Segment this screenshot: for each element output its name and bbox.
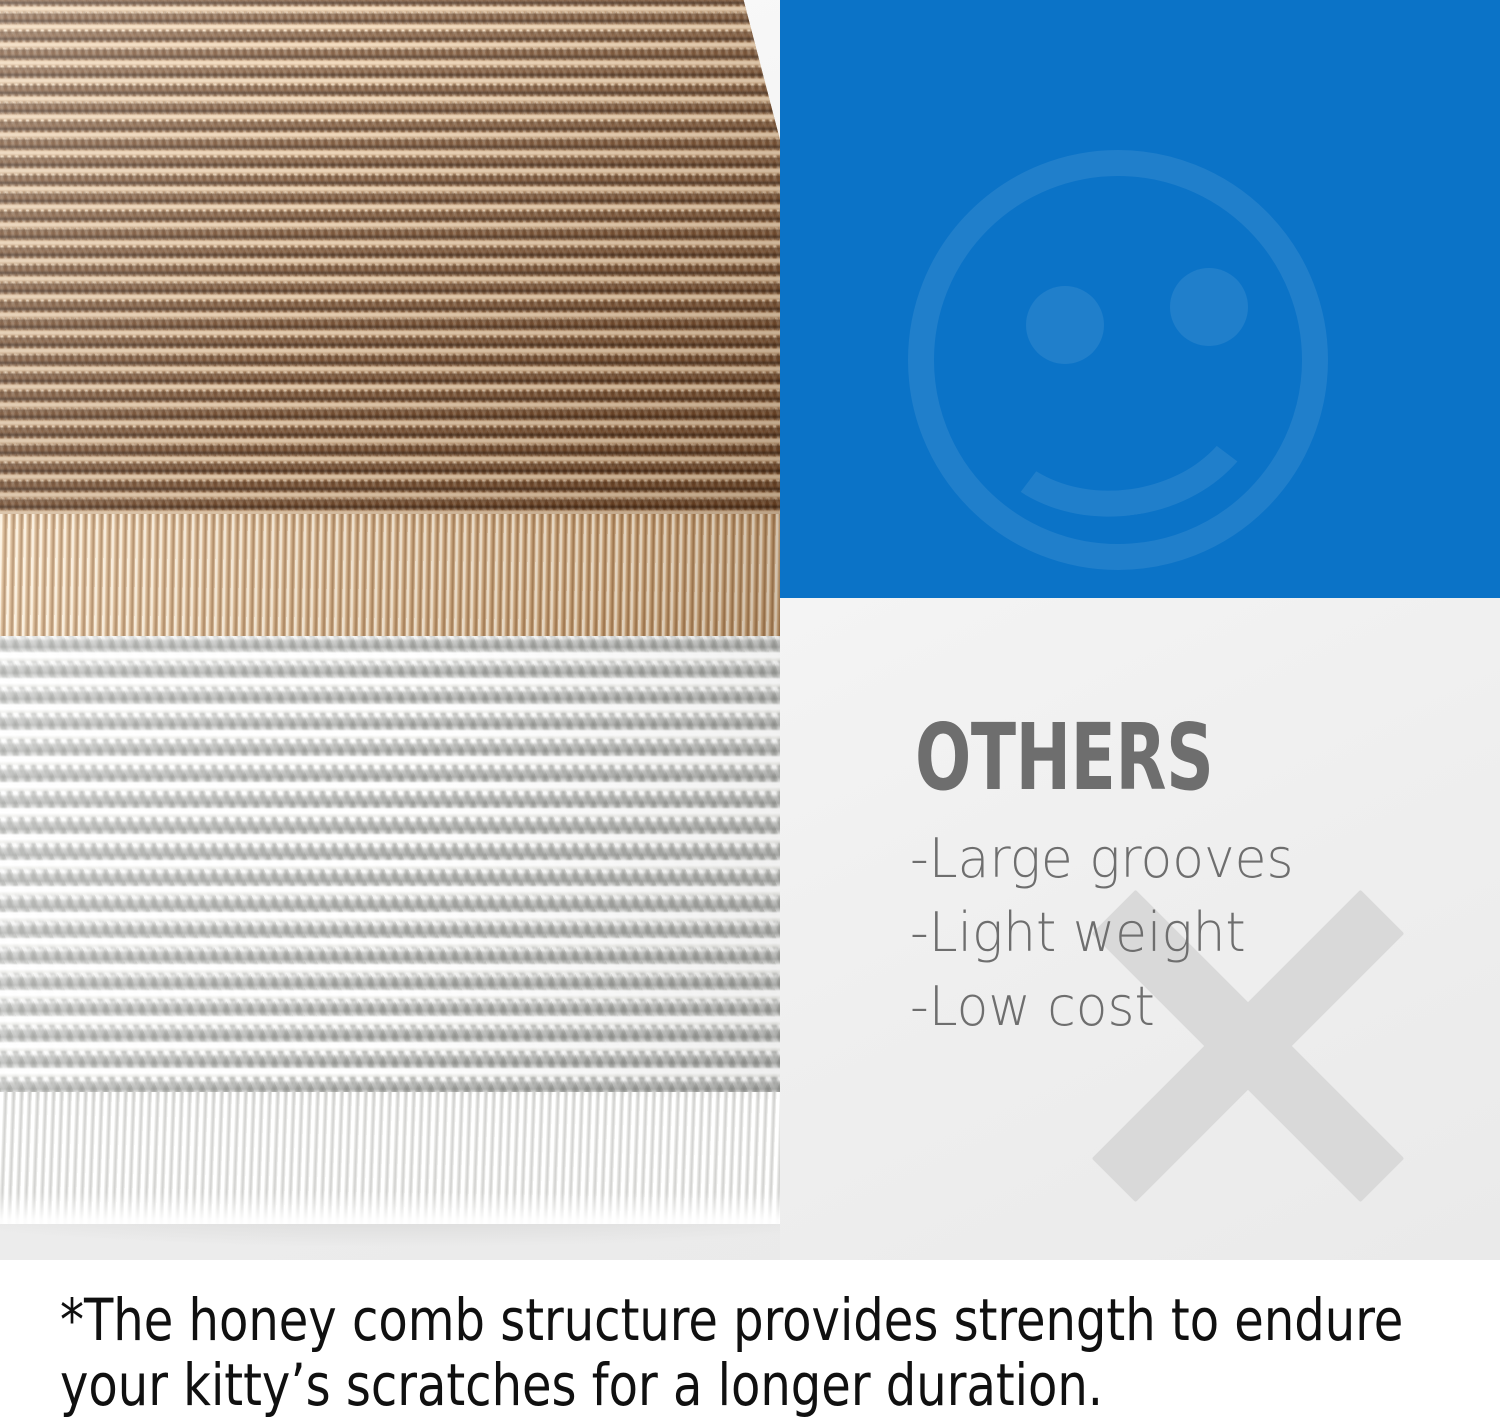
- others-bullet-3: -Low cost: [910, 980, 1294, 1034]
- others-panel: OTHERS -Large grooves -Light weight -Low…: [780, 598, 1500, 1260]
- caption-line-1: *The honey comb structure provides stren…: [60, 1288, 1348, 1353]
- caption-line-2: your kitty’s scratches for a longer dura…: [60, 1353, 1348, 1418]
- product-comparison-photo: OUR PRODUCT -Highest density -Much sturd…: [0, 0, 1500, 1260]
- brown-board-surface-shading: [0, 0, 890, 528]
- smiley-face-icon: [908, 150, 1328, 570]
- infographic-root: OUR PRODUCT -Highest density -Much sturd…: [0, 0, 1500, 1421]
- others-heading: OTHERS: [915, 712, 1213, 804]
- brown-honeycomb-board: [0, 0, 890, 642]
- our-product-panel: OUR PRODUCT -Highest density -Much sturd…: [780, 0, 1500, 598]
- brown-board-edge-shading: [0, 514, 890, 642]
- others-bullet-2: -Light weight: [910, 906, 1294, 960]
- others-bullet-list: -Large grooves -Light weight -Low cost: [910, 832, 1310, 1054]
- others-bullet-1: -Large grooves: [910, 832, 1294, 886]
- footnote-caption: *The honey comb structure provides stren…: [60, 1288, 1348, 1418]
